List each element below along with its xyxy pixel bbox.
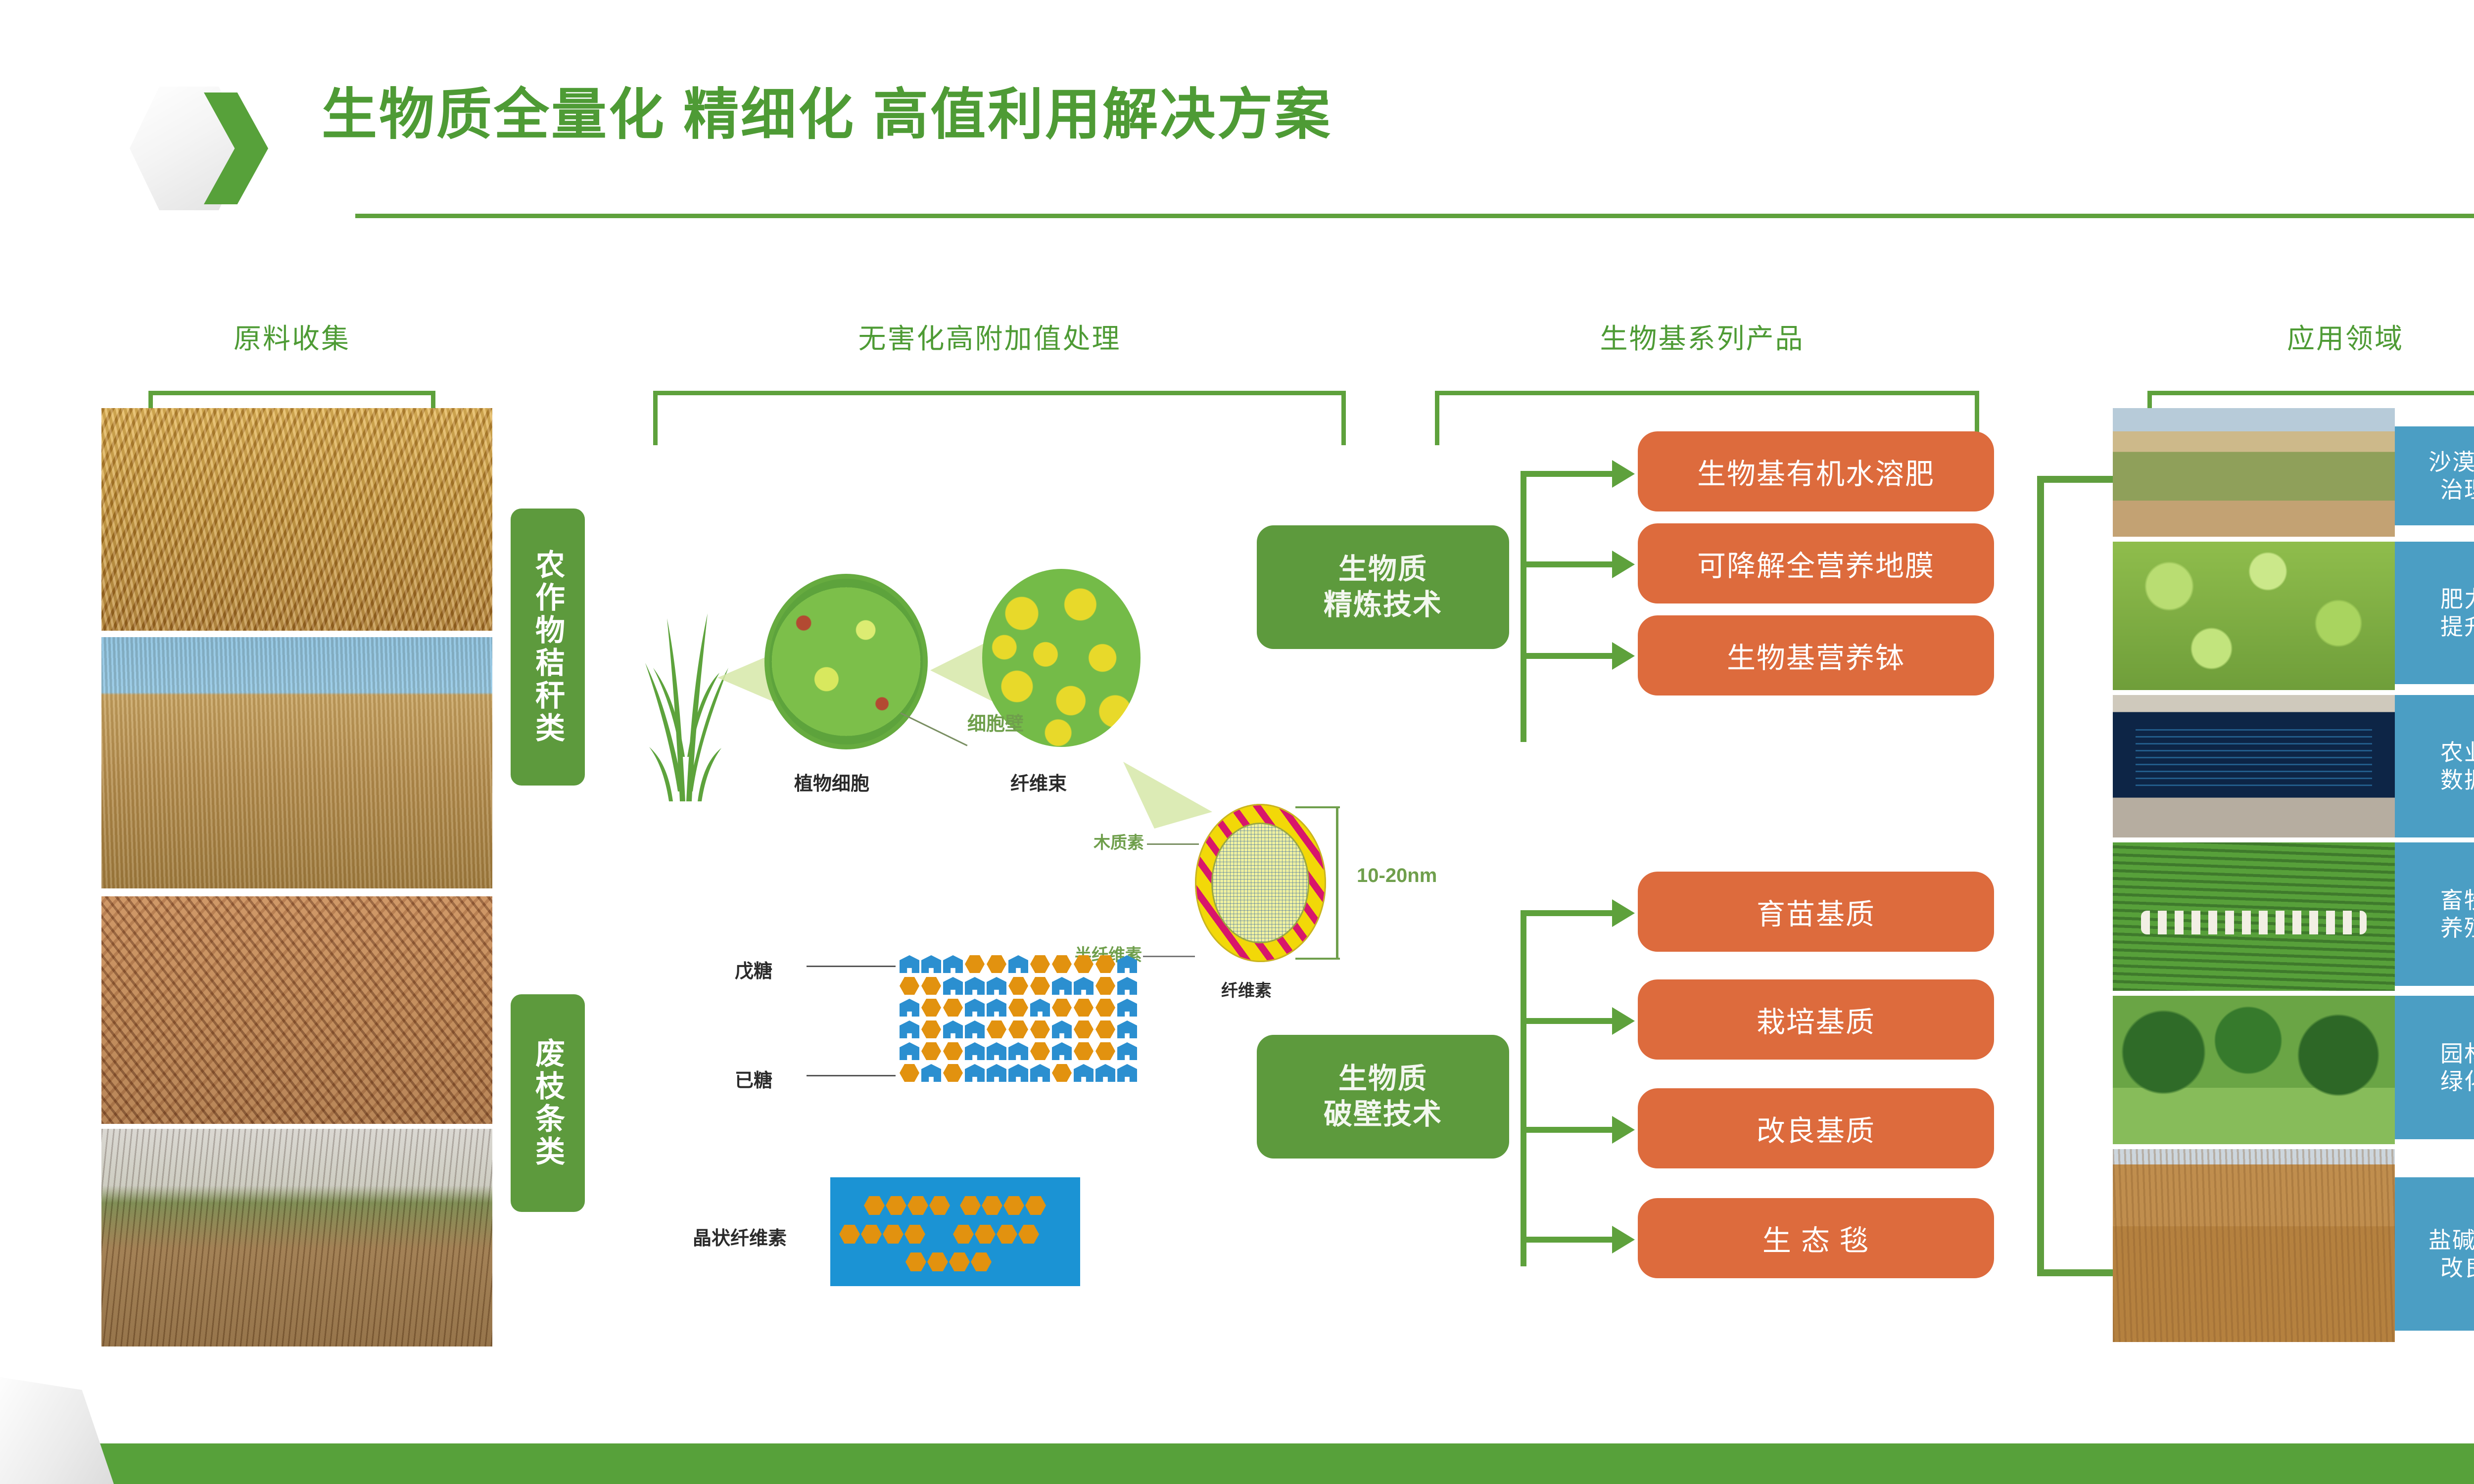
product-box-water-soluble-fertilizer[interactable]: 生物基有机水溶肥 — [1638, 431, 1994, 511]
photo-corn-straw — [101, 408, 492, 631]
plant-cell-illustration — [764, 574, 928, 749]
arrow-head-refining-1 — [1612, 460, 1635, 488]
product-box-seedling-substrate[interactable]: 育苗基质 — [1638, 872, 1994, 952]
cell-wall-leader-line — [900, 712, 967, 746]
grass-plant-icon — [638, 524, 732, 801]
dimension-line — [1336, 807, 1338, 960]
pentose-leader-line — [807, 966, 896, 967]
app-label-landscape-greening[interactable]: 园林绿化 — [2395, 996, 2474, 1139]
lignin-leader-line — [1147, 843, 1199, 845]
raw-material-label-crop-straw: 农作物秸秆类 — [511, 509, 585, 786]
app-label-line2: 治理 — [2440, 477, 2474, 503]
arrow-head-refining-2 — [1612, 551, 1635, 578]
sugar-chain-row — [900, 977, 1137, 995]
app-photo-desert-vegetation — [2113, 408, 2395, 537]
product-box-ecological-blanket[interactable]: 生 态 毯 — [1638, 1198, 1994, 1278]
arrow-head-breaking-1 — [1612, 899, 1635, 927]
page-title: 生物质全量化 精细化 高值利用解决方案 — [322, 84, 1332, 145]
footer-bar — [0, 1443, 2474, 1484]
app-photo-cabbage-field — [2113, 542, 2395, 690]
label-fiber-dimension: 10-20nm — [1357, 865, 1437, 887]
section-title-processing: 无害化高附加值处理 — [643, 317, 1336, 357]
hexagon-chevron-icon — [130, 87, 273, 219]
dimension-tick-bottom — [1295, 958, 1340, 960]
app-photo-saline-alkali-land — [2113, 1149, 2395, 1342]
app-label-line1: 盐碱地 — [2428, 1227, 2474, 1253]
arrow-trunk-refining — [1521, 471, 1526, 742]
app-label-line2: 提升 — [2440, 614, 2474, 640]
app-label-line2: 数据 — [2440, 767, 2474, 793]
arrow-head-breaking-3 — [1612, 1116, 1635, 1144]
photo-pruned-branches — [101, 896, 492, 1124]
arrow-arm-refining-3 — [1521, 653, 1615, 659]
sugar-chain-row — [900, 999, 1137, 1017]
tech-box-refining[interactable]: 生物质 精炼技术 — [1257, 525, 1509, 649]
crystalline-cellulose-diagram — [830, 1177, 1080, 1286]
app-label-line1: 畜牧 — [2440, 887, 2474, 913]
label-cellulose: 纤维素 — [1221, 977, 1272, 1001]
app-label-saline-land-improvement[interactable]: 盐碱地改良 — [2395, 1177, 2474, 1331]
cellulose-core-illustration — [1211, 823, 1309, 943]
product-box-biodegradable-mulch-film[interactable]: 可降解全营养地膜 — [1638, 523, 1994, 603]
photo-baled-straw — [101, 637, 492, 888]
tech-box-cell-wall-breaking[interactable]: 生物质 破壁技术 — [1257, 1035, 1509, 1159]
dimension-tick-top — [1295, 806, 1340, 808]
product-box-improvement-substrate[interactable]: 改良基质 — [1638, 1088, 1994, 1168]
app-label-fertility-improvement[interactable]: 肥力提升 — [2395, 542, 2474, 684]
product-box-cultivation-substrate[interactable]: 栽培基质 — [1638, 979, 1994, 1060]
arrow-arm-refining-2 — [1521, 561, 1615, 567]
tech-label-line2: 精炼技术 — [1324, 587, 1442, 623]
arrow-head-breaking-2 — [1612, 1007, 1635, 1035]
app-label-desertification-control[interactable]: 沙漠化治理 — [2395, 426, 2474, 525]
arrow-arm-breaking-1 — [1521, 910, 1615, 916]
label-cell-wall: 细胞壁 — [967, 708, 1024, 736]
tech-label-line2: 破壁技术 — [1324, 1097, 1442, 1133]
arrow-arm-breaking-3 — [1521, 1127, 1615, 1133]
product-box-nutrition-pot[interactable]: 生物基营养钵 — [1638, 615, 1994, 696]
section-title-raw-material: 原料收集 — [148, 317, 435, 357]
label-hexose: 已糖 — [735, 1065, 772, 1092]
app-label-livestock-breeding[interactable]: 畜牧养殖 — [2395, 842, 2474, 986]
arrow-head-breaking-4 — [1612, 1226, 1635, 1253]
app-label-agriculture-data[interactable]: 农业数据 — [2395, 695, 2474, 837]
hexose-leader-line — [807, 1075, 896, 1076]
page-header: 生物质全量化 精细化 高值利用解决方案 — [0, 0, 2474, 232]
arrow-arm-breaking-2 — [1521, 1018, 1615, 1024]
app-label-line2: 绿化 — [2440, 1068, 2474, 1094]
label-pentose: 戊糖 — [735, 956, 772, 983]
app-label-line1: 园林 — [2440, 1041, 2474, 1067]
footer-wedge-decoration — [0, 1377, 114, 1484]
app-label-line1: 农业 — [2440, 740, 2474, 765]
app-label-line1: 沙漠化 — [2428, 449, 2474, 475]
magnify-beam-3 — [1123, 762, 1212, 829]
label-fiber-bundle: 纤维束 — [1010, 768, 1067, 795]
section-title-applications: 应用领域 — [2147, 317, 2474, 357]
label-lignin: 木质素 — [1094, 829, 1144, 853]
tech-label-line1: 生物质 — [1338, 1061, 1427, 1097]
section-bracket-processing — [653, 391, 1346, 445]
app-label-line2: 改良 — [2440, 1255, 2474, 1281]
sugar-chain-row — [900, 1020, 1137, 1038]
section-title-products: 生物基系列产品 — [1425, 317, 1979, 357]
app-label-line1: 肥力 — [2440, 586, 2474, 612]
app-photo-data-control-room — [2113, 695, 2395, 837]
sugar-chain-row — [900, 1064, 1137, 1082]
application-bracket-spine — [2037, 476, 2044, 1276]
photo-vineyard-pruning — [101, 1129, 492, 1346]
title-underline — [355, 214, 2474, 218]
arrow-arm-refining-1 — [1521, 471, 1615, 477]
label-crystalline-cellulose: 晶状纤维素 — [693, 1223, 787, 1250]
hemicellulose-leader-line — [1143, 956, 1195, 957]
app-photo-park-trees — [2113, 996, 2395, 1144]
app-label-line2: 养殖 — [2440, 915, 2474, 941]
label-plant-cell: 植物细胞 — [794, 768, 869, 795]
arrow-head-refining-3 — [1612, 642, 1635, 670]
raw-material-label-waste-branch: 废枝条类 — [511, 994, 585, 1212]
sugar-chain-row — [900, 1042, 1137, 1060]
arrow-trunk-breaking — [1521, 910, 1526, 1266]
tech-label-line1: 生物质 — [1338, 552, 1427, 588]
sugar-chain-row — [900, 955, 1137, 973]
app-photo-grazing-sheep — [2113, 842, 2395, 991]
arrow-arm-breaking-4 — [1521, 1237, 1615, 1243]
